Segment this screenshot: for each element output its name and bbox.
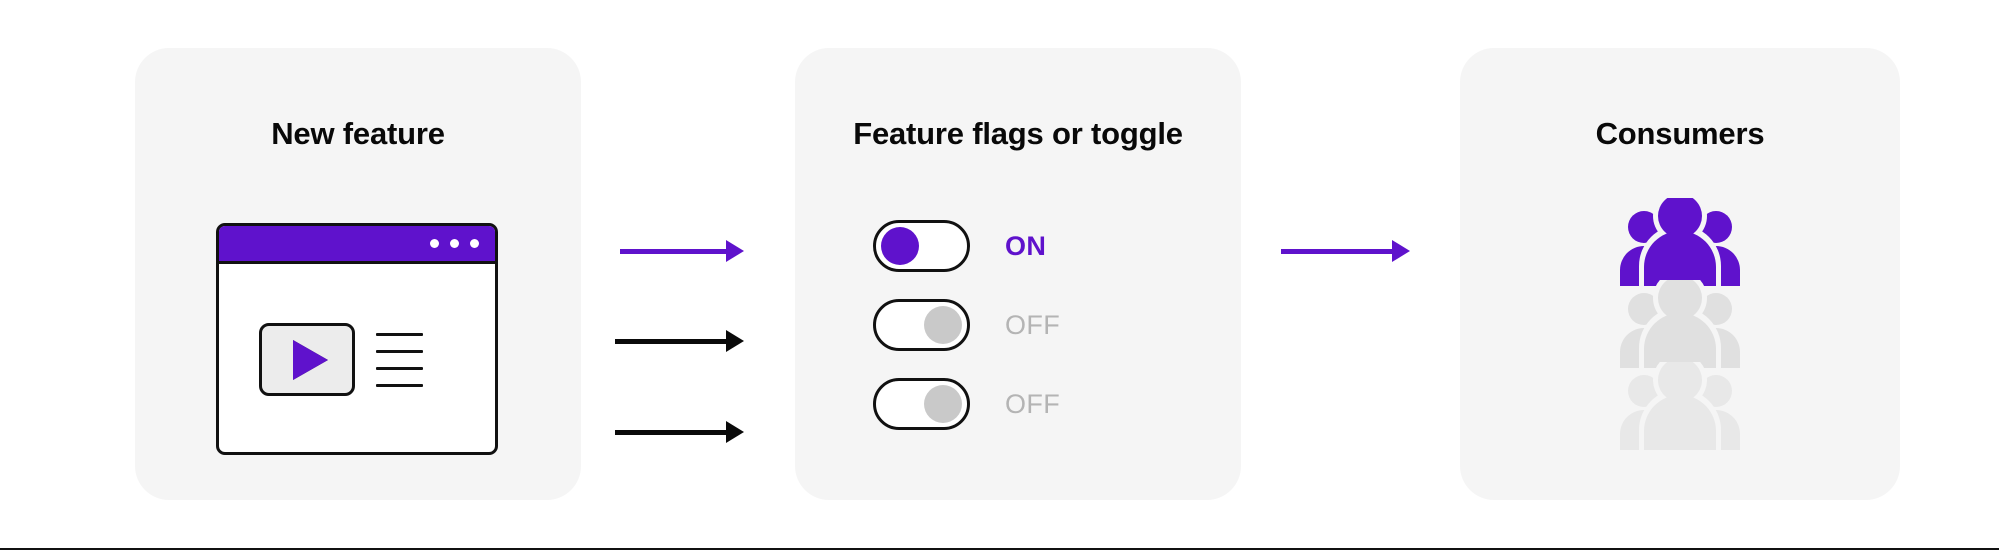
toggle-row-off-1: OFF [873, 299, 1163, 351]
arrow-shaft [615, 430, 727, 435]
toggle-knob [924, 385, 962, 423]
browser-content [219, 264, 495, 455]
window-dot-icon [430, 239, 439, 248]
arrow-head [726, 240, 744, 262]
arrow-right-icon-purple-1 [620, 240, 744, 262]
card-new-feature-title: New feature [135, 116, 581, 152]
browser-titlebar [219, 226, 495, 264]
people-group-icon-inactive-1 [1614, 280, 1746, 368]
arrow-right-icon-black-1 [615, 330, 744, 352]
people-group-icon-active [1614, 198, 1746, 286]
consumer-groups [1460, 198, 1900, 450]
toggle-row-on: ON [873, 220, 1163, 272]
toggle-label-off-2: OFF [1005, 389, 1060, 420]
bottom-divider [0, 548, 1999, 550]
card-new-feature: New feature [135, 48, 581, 500]
window-dot-icon [450, 239, 459, 248]
text-line [376, 333, 423, 336]
arrow-head [1392, 240, 1410, 262]
text-line [376, 384, 423, 387]
toggle-row-off-2: OFF [873, 378, 1163, 430]
arrow-right-icon-black-2 [615, 421, 744, 443]
toggle-list: ON OFF OFF [795, 220, 1241, 430]
play-icon [293, 340, 328, 380]
toggle-switch-off-1[interactable] [873, 299, 970, 351]
arrow-shaft [1281, 249, 1393, 254]
text-lines-placeholder [376, 333, 423, 387]
card-consumers: Consumers [1460, 48, 1900, 500]
toggle-knob [924, 306, 962, 344]
card-feature-flags-title: Feature flags or toggle [795, 116, 1241, 152]
browser-window-illustration [216, 223, 498, 455]
arrow-shaft [615, 339, 727, 344]
diagram-canvas: New feature [0, 0, 1999, 556]
window-dot-icon [470, 239, 479, 248]
video-thumbnail [259, 323, 355, 396]
arrow-shaft [620, 249, 727, 254]
toggle-label-on: ON [1005, 231, 1046, 262]
card-feature-flags: Feature flags or toggle ON OFF OFF [795, 48, 1241, 500]
card-consumers-title: Consumers [1460, 116, 1900, 152]
arrow-right-icon-purple-2 [1281, 240, 1410, 262]
arrow-head [726, 330, 744, 352]
toggle-knob [881, 227, 919, 265]
text-line [376, 367, 423, 370]
text-line [376, 350, 423, 353]
arrow-head [726, 421, 744, 443]
toggle-switch-on[interactable] [873, 220, 970, 272]
toggle-switch-off-2[interactable] [873, 378, 970, 430]
people-group-icon-inactive-2 [1614, 362, 1746, 450]
toggle-label-off-1: OFF [1005, 310, 1060, 341]
